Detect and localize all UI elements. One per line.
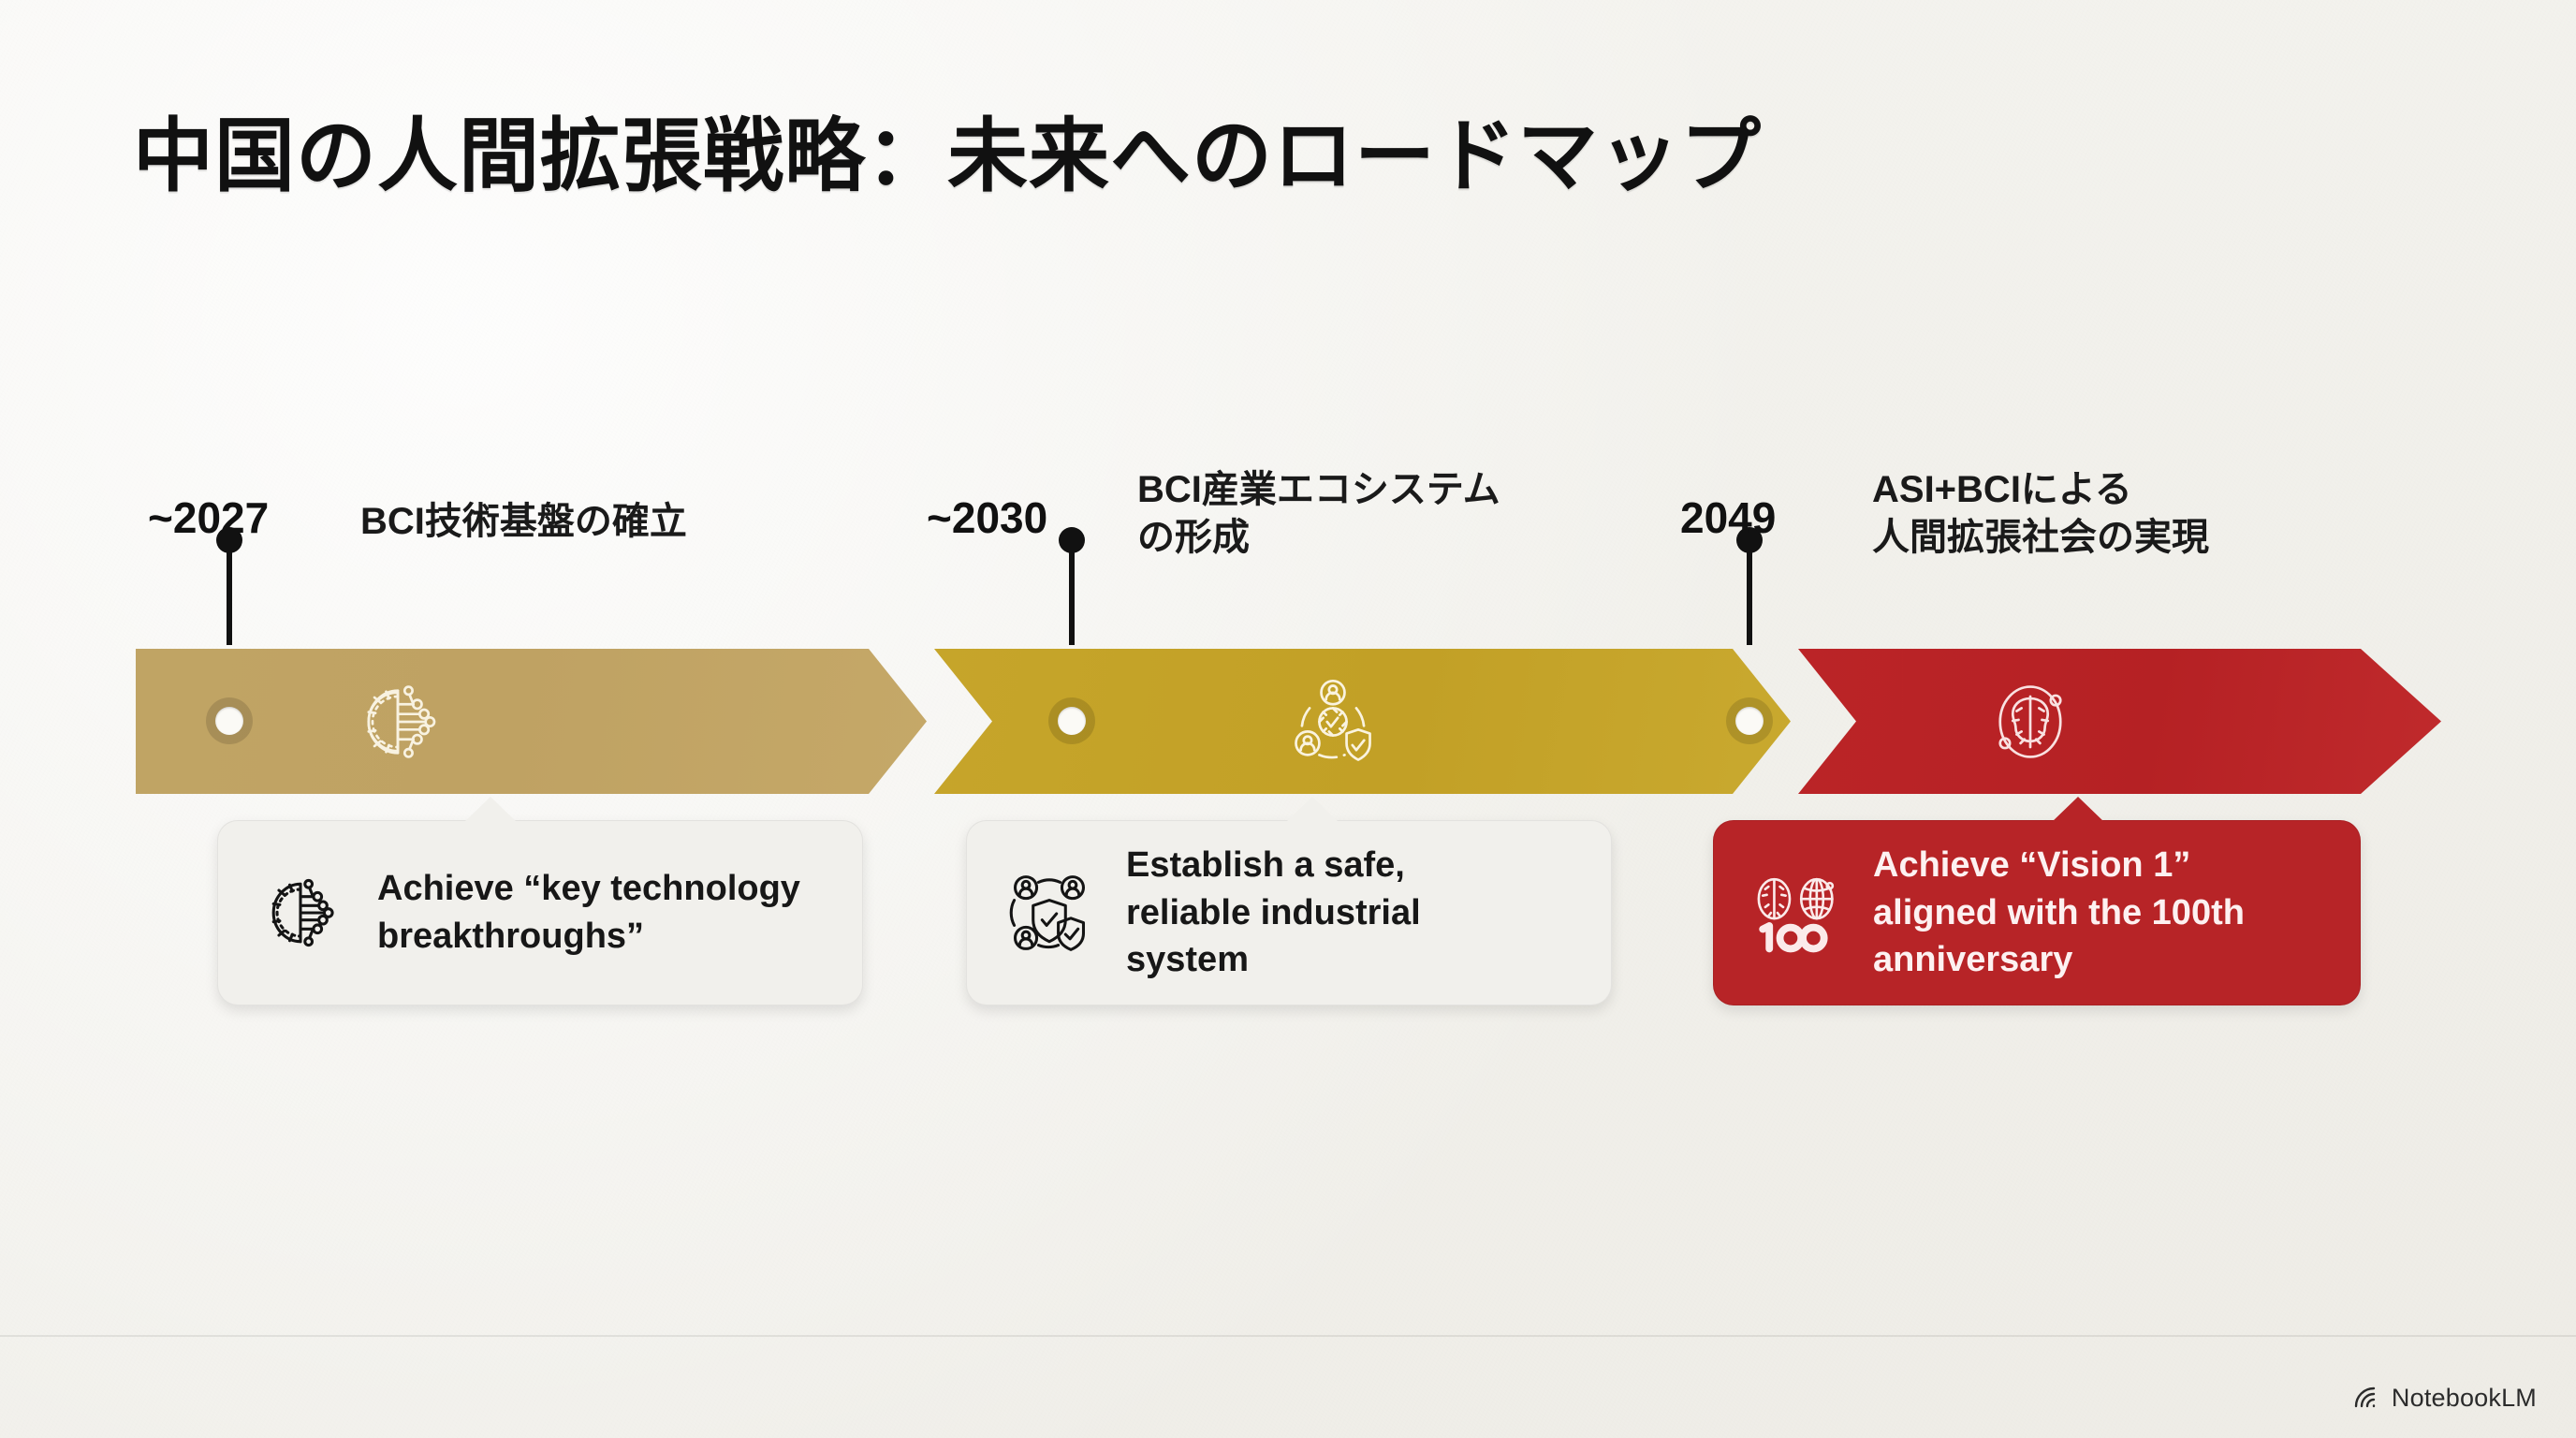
milestone-heading-2027: BCI技術基盤の確立 xyxy=(360,498,687,546)
card-pointer-tab xyxy=(2051,797,2105,823)
marker-stem xyxy=(227,540,232,645)
marker-hub xyxy=(1726,697,1773,744)
milestone-heading-2030: BCI産業エコシステム の形成 xyxy=(1137,466,1500,562)
marker-stem xyxy=(1069,540,1075,645)
callout-card-2049[interactable]: Achieve “Vision 1” aligned with the 100t… xyxy=(1713,820,2361,1005)
callout-text-2049: Achieve “Vision 1” aligned with the 100t… xyxy=(1873,842,2245,984)
people-shield-network-icon xyxy=(1284,673,1382,770)
timeline-segment-2049[interactable] xyxy=(1798,649,2441,794)
milestone-heading-2049: ASI+BCIによる 人間拡張社会の実現 xyxy=(1872,466,2209,562)
card-pointer-tab xyxy=(463,797,518,823)
milestone-year-2049: 2049 xyxy=(1680,492,1776,543)
marker-hub xyxy=(1048,697,1095,744)
brain-globe-100-icon xyxy=(1751,868,1841,958)
marker-stem xyxy=(1747,540,1752,645)
milestone-year-2030: ~2030 xyxy=(927,492,1047,543)
people-shield-network-icon xyxy=(1004,868,1094,958)
callout-card-2027[interactable]: Achieve “key technology breakthroughs” xyxy=(217,820,863,1005)
card-pointer-tab xyxy=(1285,797,1339,823)
callout-text-2027: Achieve “key technology breakthroughs” xyxy=(377,865,800,960)
callout-text-2030: Establish a safe, reliable industrial sy… xyxy=(1126,842,1421,984)
footer-divider xyxy=(0,1335,2576,1337)
timeline-band xyxy=(136,649,2441,794)
brain-orbit-icon xyxy=(1982,673,2079,770)
gear-circuit-icon xyxy=(256,868,345,958)
slide-canvas: 中国の人間拡張戦略：未来へのロードマップ xyxy=(0,0,2576,1438)
notebooklm-watermark: NotebookLM xyxy=(2352,1384,2537,1413)
callout-card-2030[interactable]: Establish a safe, reliable industrial sy… xyxy=(966,820,1612,1005)
watermark-label: NotebookLM xyxy=(2392,1384,2537,1413)
milestone-year-2027: ~2027 xyxy=(148,492,269,543)
timeline-segment-2027[interactable] xyxy=(136,649,927,794)
marker-hub xyxy=(206,697,253,744)
notebooklm-spiral-icon xyxy=(2352,1385,2380,1413)
gear-circuit-icon xyxy=(349,673,446,770)
page-title: 中国の人間拡張戦略：未来へのロードマップ xyxy=(133,90,1762,207)
